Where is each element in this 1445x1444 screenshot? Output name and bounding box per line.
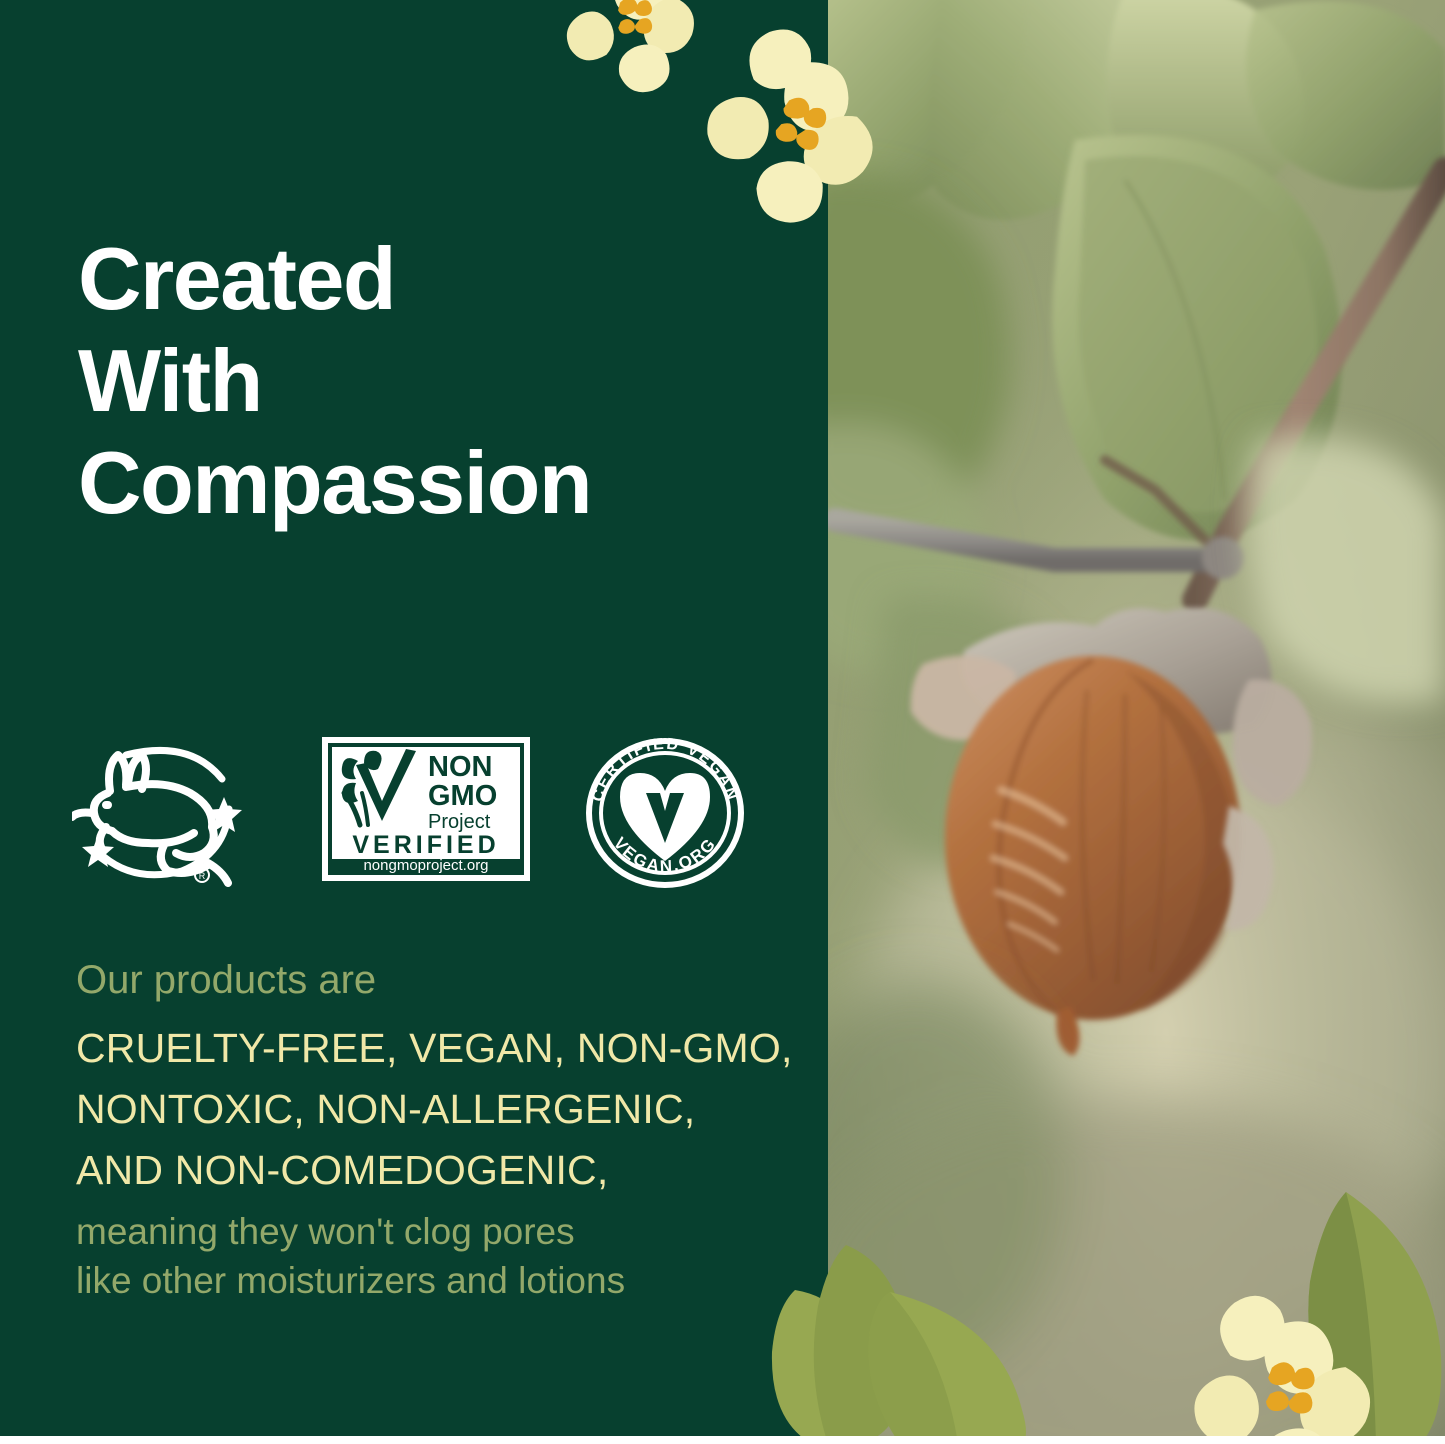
claim-line-2: NONTOXIC, NON-ALLERGENIC, [76, 1079, 816, 1140]
certification-badge-row: R [72, 735, 772, 895]
headline-line-3: Compassion [78, 432, 808, 534]
claim-line-3: AND NON-COMEDOGENIC, [76, 1140, 816, 1201]
gmo-line-verified: VERIFIED [352, 831, 499, 859]
jojoba-photo [825, 0, 1445, 1436]
claim-line-1: CRUELTY-FREE, VEGAN, NON-GMO, [76, 1018, 816, 1079]
headline-line-1: Created [78, 228, 808, 330]
svg-text:R: R [199, 871, 206, 881]
registered-mark: R [195, 868, 209, 882]
non-gmo-project-badge: NON GMO Project VERIFIED nongmoproject.o… [320, 735, 532, 883]
headline-line-2: With [78, 330, 808, 432]
gmo-line-url: nongmoproject.org [363, 857, 488, 874]
promo-card: Created With Compassion [0, 0, 1445, 1444]
claims-intro: Our products are [76, 952, 816, 1008]
green-content-panel: Created With Compassion [0, 0, 828, 1436]
certified-vegan-badge: CERTIFIED VEGAN VEGAN.ORG [580, 735, 750, 890]
claims-tail-line-2: like other moisturizers and lotions [76, 1256, 816, 1305]
gmo-line-non: NON [428, 751, 492, 783]
claims-tail-line-1: meaning they won't clog pores [76, 1207, 816, 1256]
leaping-bunny-badge: R [72, 735, 247, 887]
gmo-line-project: Project [428, 811, 491, 833]
gmo-line-gmo: GMO [428, 780, 497, 812]
bottom-border-strip [0, 1436, 1445, 1444]
product-claims-copy: Our products are CRUELTY-FREE, VEGAN, NO… [76, 952, 816, 1305]
page-title: Created With Compassion [78, 228, 808, 534]
